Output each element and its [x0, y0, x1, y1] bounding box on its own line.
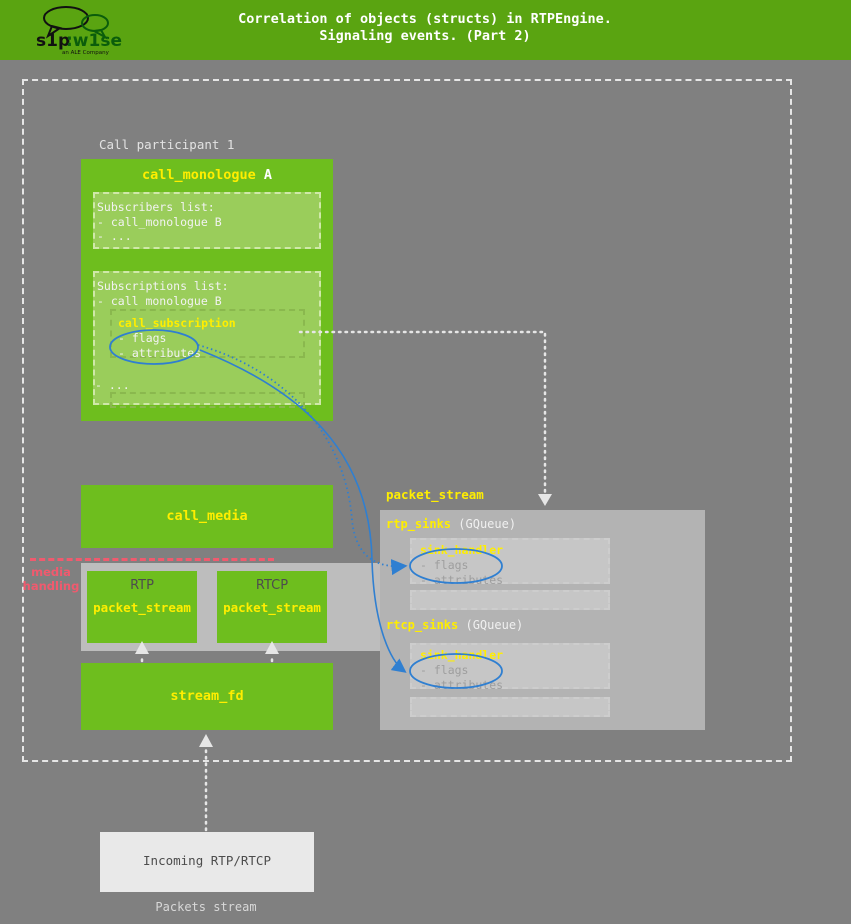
rtcp-struct-label: packet_stream — [217, 600, 327, 615]
rtcp-sinks-empty-slot — [410, 697, 610, 717]
media-handling-label: media handling — [22, 565, 80, 593]
rtcp-sinks-type: (GQueue) — [465, 618, 523, 632]
call-monologue-struct-name: call_monologue — [142, 167, 256, 183]
subscribers-items: - call_monologue B - ... — [97, 215, 222, 244]
subscriptions-list-text: Subscriptions list:- call monologue B — [97, 279, 229, 308]
svg-text:an ALE Company: an ALE Company — [62, 50, 110, 56]
rtcp-protocol-label: RTCP — [217, 578, 327, 593]
rtcp-sink-handler-title: sink_handler — [420, 648, 503, 662]
call-monologue-suffix: A — [256, 167, 272, 183]
rtp-sink-handler-box: sink_handler - flags - attributes — [410, 538, 610, 584]
rtcp-packet-stream-box: RTCP packet_stream — [217, 571, 327, 643]
call-subscription-fields: - flags - attributes — [118, 331, 201, 360]
rtp-struct-label: packet_stream — [87, 600, 197, 615]
packet-stream-label: packet_stream — [386, 487, 484, 502]
rtp-sinks-name: rtp_sinks — [386, 517, 451, 531]
rtp-sinks-type: (GQueue) — [458, 517, 516, 531]
app-header: s1p :w1se an ALE Company Correlation of … — [0, 0, 851, 60]
svg-text::w1se: :w1se — [66, 31, 122, 51]
rtp-packet-stream-box: RTP packet_stream — [87, 571, 197, 643]
page-title: Correlation of objects (structs) in RTPE… — [160, 11, 690, 45]
call-monologue-title: call_monologue A — [81, 167, 333, 183]
rtp-sinks-empty-slot — [410, 590, 610, 610]
call-participant-label: Call participant 1 — [99, 137, 234, 152]
rtp-sink-handler-title: sink_handler — [420, 543, 503, 557]
subscribers-list-text: Subscribers list:- call_monologue B - ..… — [97, 200, 222, 244]
logo-svg: s1p :w1se an ALE Company — [32, 4, 124, 56]
incoming-rtp-rtcp-label: Incoming RTP/RTCP — [100, 853, 314, 868]
sipwise-logo: s1p :w1se an ALE Company — [32, 4, 124, 56]
svg-text:s1p: s1p — [36, 31, 70, 51]
incoming-rtp-rtcp-box: Incoming RTP/RTCP — [100, 832, 314, 892]
packets-stream-caption: Packets stream — [0, 900, 412, 914]
call-media-box: call_media — [81, 485, 333, 548]
subscriptions-heading: Subscriptions list: — [97, 279, 229, 293]
rtcp-sink-handler-box: sink_handler - flags - attributes — [410, 643, 610, 689]
call-subscription-box: call_subscription - flags - attributes — [110, 309, 305, 358]
subscribers-list-box: Subscribers list:- call_monologue B - ..… — [93, 192, 321, 249]
call-media-title: call_media — [81, 508, 333, 524]
subscriptions-ellipsis: - ... — [95, 378, 130, 392]
rtp-sink-handler-fields: - flags - attributes — [420, 558, 503, 587]
subscribers-heading: Subscribers list: — [97, 200, 215, 214]
rtcp-sink-handler-fields: - flags - attributes — [420, 663, 503, 692]
call-subscription-box-placeholder — [110, 392, 305, 408]
rtp-protocol-label: RTP — [87, 578, 197, 593]
call-subscription-title: call_subscription — [118, 316, 236, 330]
rtp-sinks-label: rtp_sinks (GQueue) — [386, 517, 516, 531]
subscriptions-items: - call monologue B — [97, 294, 222, 308]
stream-fd-box: stream_fd — [81, 663, 333, 730]
rtcp-sinks-label: rtcp_sinks (GQueue) — [386, 618, 523, 632]
media-handling-divider — [30, 558, 274, 561]
stream-fd-title: stream_fd — [81, 688, 333, 704]
rtcp-sinks-name: rtcp_sinks — [386, 618, 458, 632]
